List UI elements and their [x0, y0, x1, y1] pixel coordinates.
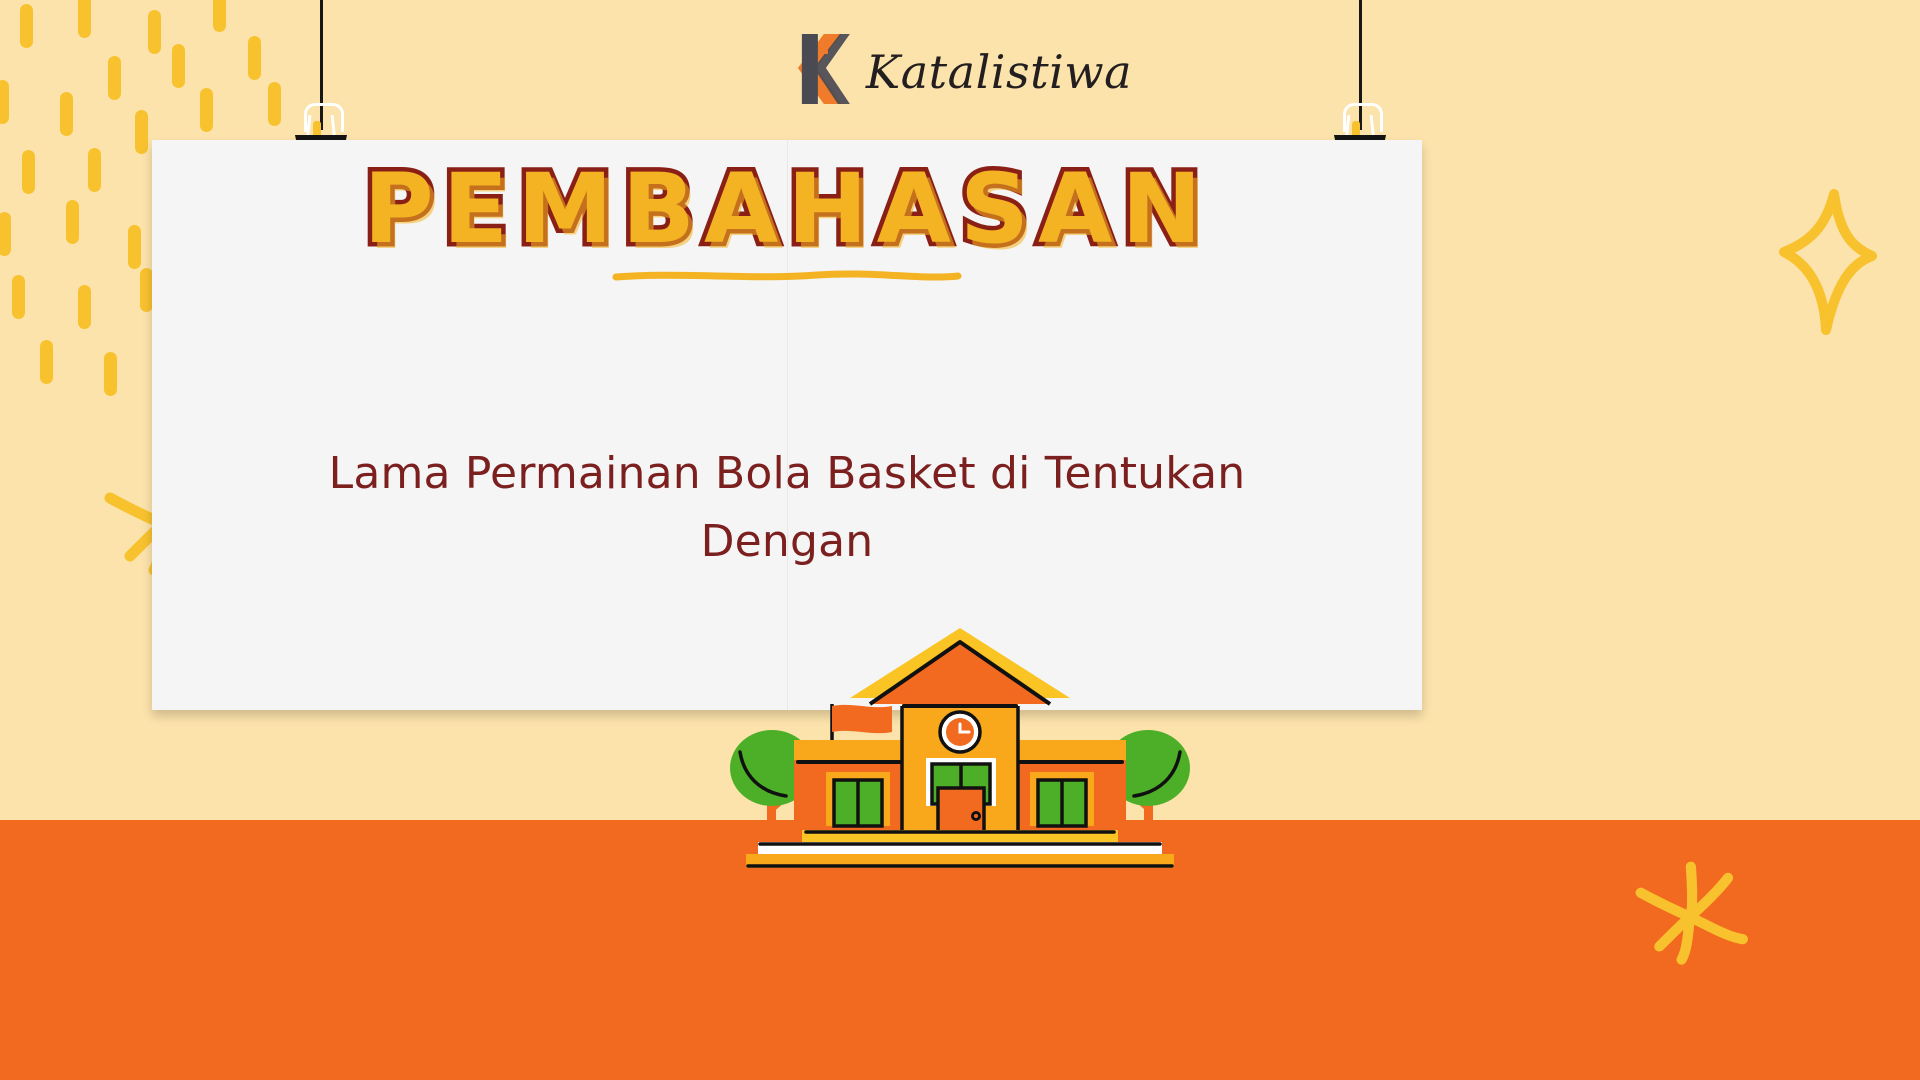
katalistiwa-k-mark-icon: [788, 32, 854, 111]
page-title: PEMBAHASAN: [363, 158, 1210, 262]
slide-canvas: Katalistiwa PEMBAHASAN Lama Permainan Bo…: [0, 0, 1920, 1080]
brand-wordmark: Katalistiwa: [866, 49, 1132, 95]
title-block: PEMBAHASAN: [152, 158, 1422, 286]
four-point-sparkle-icon: [1778, 182, 1898, 342]
school-building-illustration-icon: [710, 620, 1210, 870]
hand-drawn-underline-icon: [612, 268, 962, 286]
body-text: Lama Permainan Bola Basket di Tentukan D…: [322, 440, 1252, 576]
brand-logo: Katalistiwa: [788, 32, 1132, 111]
